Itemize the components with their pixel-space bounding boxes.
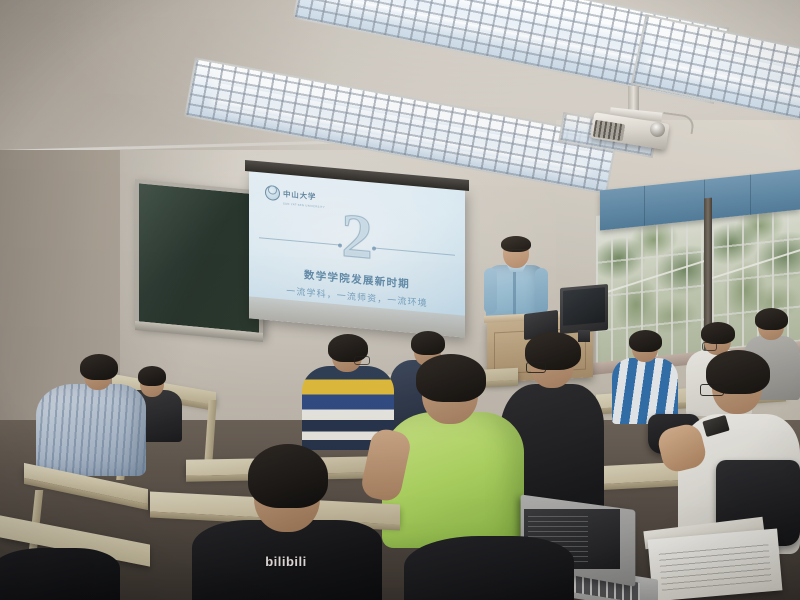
tshirt-logo: bilibili — [250, 554, 322, 569]
projection-screen: 中山大学 SUN YAT-SEN UNIVERSITY 2 数学学院发展新时期 … — [249, 170, 465, 337]
student-glasses — [526, 362, 546, 373]
student-bilibili-tee: bilibili — [192, 458, 382, 600]
student-top — [404, 536, 574, 600]
student-hair — [701, 322, 735, 344]
student-blue-stripe-back — [612, 330, 678, 422]
student-shirt-stripes — [36, 384, 146, 476]
tshirt-logo-text: bilibili — [265, 554, 307, 569]
paper-text-lines — [659, 541, 772, 590]
paper-stack — [648, 528, 783, 600]
student-lime-tee — [382, 356, 524, 546]
student-glasses — [700, 384, 724, 396]
desktop-monitor — [560, 286, 608, 332]
student-hair — [629, 330, 662, 352]
lecturer-arm-right — [535, 268, 548, 314]
student-dark-front-left — [0, 548, 120, 600]
student-dark-front-right — [404, 536, 574, 600]
student-hair — [248, 444, 328, 508]
student-hair — [416, 354, 486, 402]
lecturer-arm-left — [484, 268, 497, 314]
student-hair — [411, 331, 445, 355]
projector-pole — [628, 86, 639, 112]
student-striped-shirt-left — [36, 356, 146, 476]
student-glasses — [354, 356, 370, 365]
student-hair — [755, 308, 788, 330]
blackboard — [135, 179, 263, 337]
projector — [588, 92, 684, 154]
classroom-photo: 中山大学 SUN YAT-SEN UNIVERSITY 2 数学学院发展新时期 … — [0, 0, 800, 600]
lecturer-glasses — [504, 249, 528, 255]
student-top — [0, 548, 120, 600]
student-hair — [80, 354, 118, 380]
student-top — [382, 412, 524, 548]
